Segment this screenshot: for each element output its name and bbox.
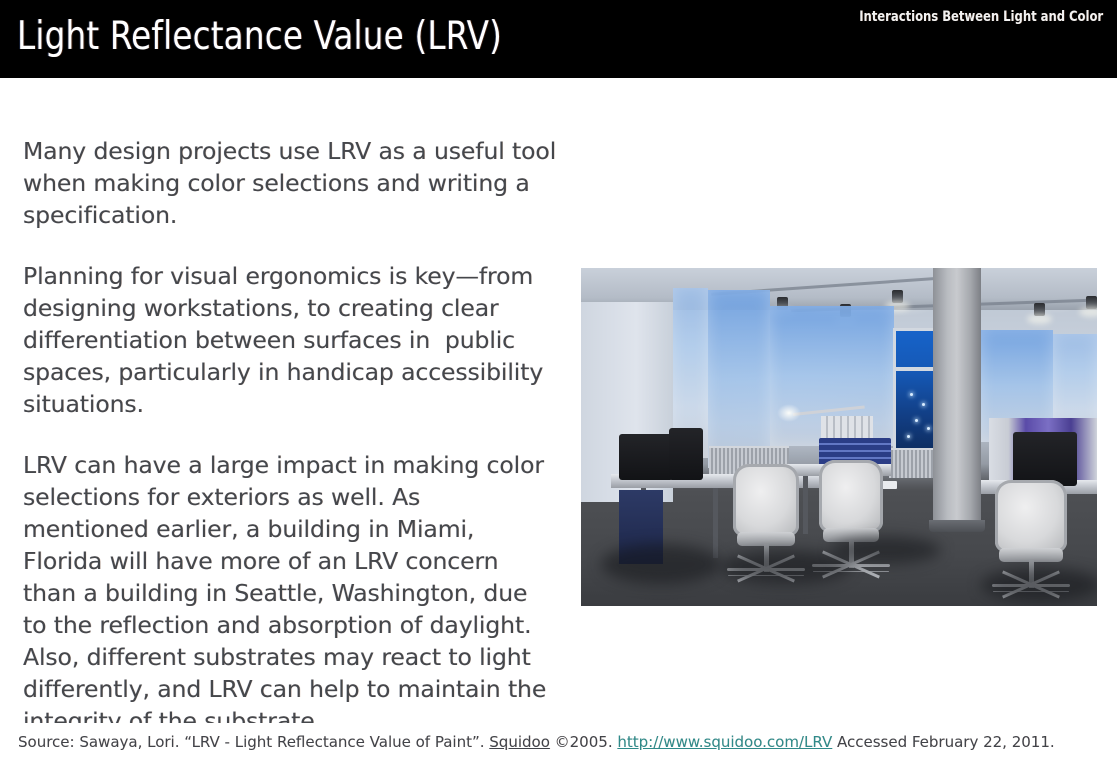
slide-header-bar: Light Reflectance Value (LRV) Interactio…	[0, 0, 1117, 78]
photo-radiator-2	[889, 448, 933, 478]
photo-floor-shadow-2	[831, 536, 941, 564]
page-title: Light Reflectance Value (LRV)	[17, 14, 502, 59]
body-paragraph-2: Planning for visual ergonomics is key—fr…	[23, 260, 551, 420]
photo-desk-leg-2	[713, 488, 718, 558]
source-citation: Source: Sawaya, Lori. “LRV - Light Refle…	[18, 732, 1055, 752]
photo-city-light-1	[910, 393, 913, 396]
source-publication: Squidoo	[489, 733, 550, 751]
photo-binders	[821, 416, 873, 438]
photo-desk-leg-3	[803, 476, 808, 534]
photo-monitor-3	[1013, 432, 1077, 486]
photo-column-base	[929, 520, 985, 532]
photo-monitor-1	[619, 434, 673, 480]
photo-window-mullion	[896, 367, 938, 371]
source-url-link[interactable]: http://www.squidoo.com/LRV	[617, 733, 832, 751]
source-prefix-text: Source: Sawaya, Lori. “LRV - Light Refle…	[18, 733, 489, 751]
source-accessed-date: Accessed February 22, 2011.	[832, 733, 1054, 751]
office-interior-photo	[581, 268, 1097, 606]
photo-city-light-5	[907, 435, 910, 438]
photo-concrete-column	[933, 268, 981, 530]
body-paragraph-1: Many design projects use LRV as a useful…	[23, 135, 563, 231]
photo-floor-shadow-4	[981, 568, 1097, 602]
photo-monitor-2	[669, 428, 703, 480]
slide-body: Many design projects use LRV as a useful…	[0, 78, 1117, 723]
photo-floor-shadow-3	[601, 544, 721, 584]
deck-subtitle: Interactions Between Light and Color	[859, 9, 1103, 25]
photo-city-light-3	[915, 419, 918, 422]
photo-city-light-4	[927, 427, 930, 430]
photo-lamp-glow	[777, 404, 801, 422]
source-copyright: ©2005.	[550, 733, 617, 751]
photo-chair-back	[995, 480, 1067, 552]
photo-blind-2	[708, 290, 770, 468]
photo-city-light-2	[922, 403, 925, 406]
photo-track-light-5	[1086, 296, 1097, 309]
photo-chair-back	[819, 460, 883, 532]
photo-canvas	[581, 268, 1097, 606]
photo-track-light-3	[892, 290, 903, 303]
photo-chair-back	[733, 464, 799, 536]
photo-track-light-4	[1034, 303, 1045, 316]
photo-floor-shadow-1	[721, 550, 851, 584]
body-text-column: Many design projects use LRV as a useful…	[23, 135, 563, 737]
body-paragraph-3: LRV can have a large impact in making co…	[23, 449, 551, 737]
slide-footer: Source: Sawaya, Lori. “LRV - Light Refle…	[0, 723, 1117, 778]
